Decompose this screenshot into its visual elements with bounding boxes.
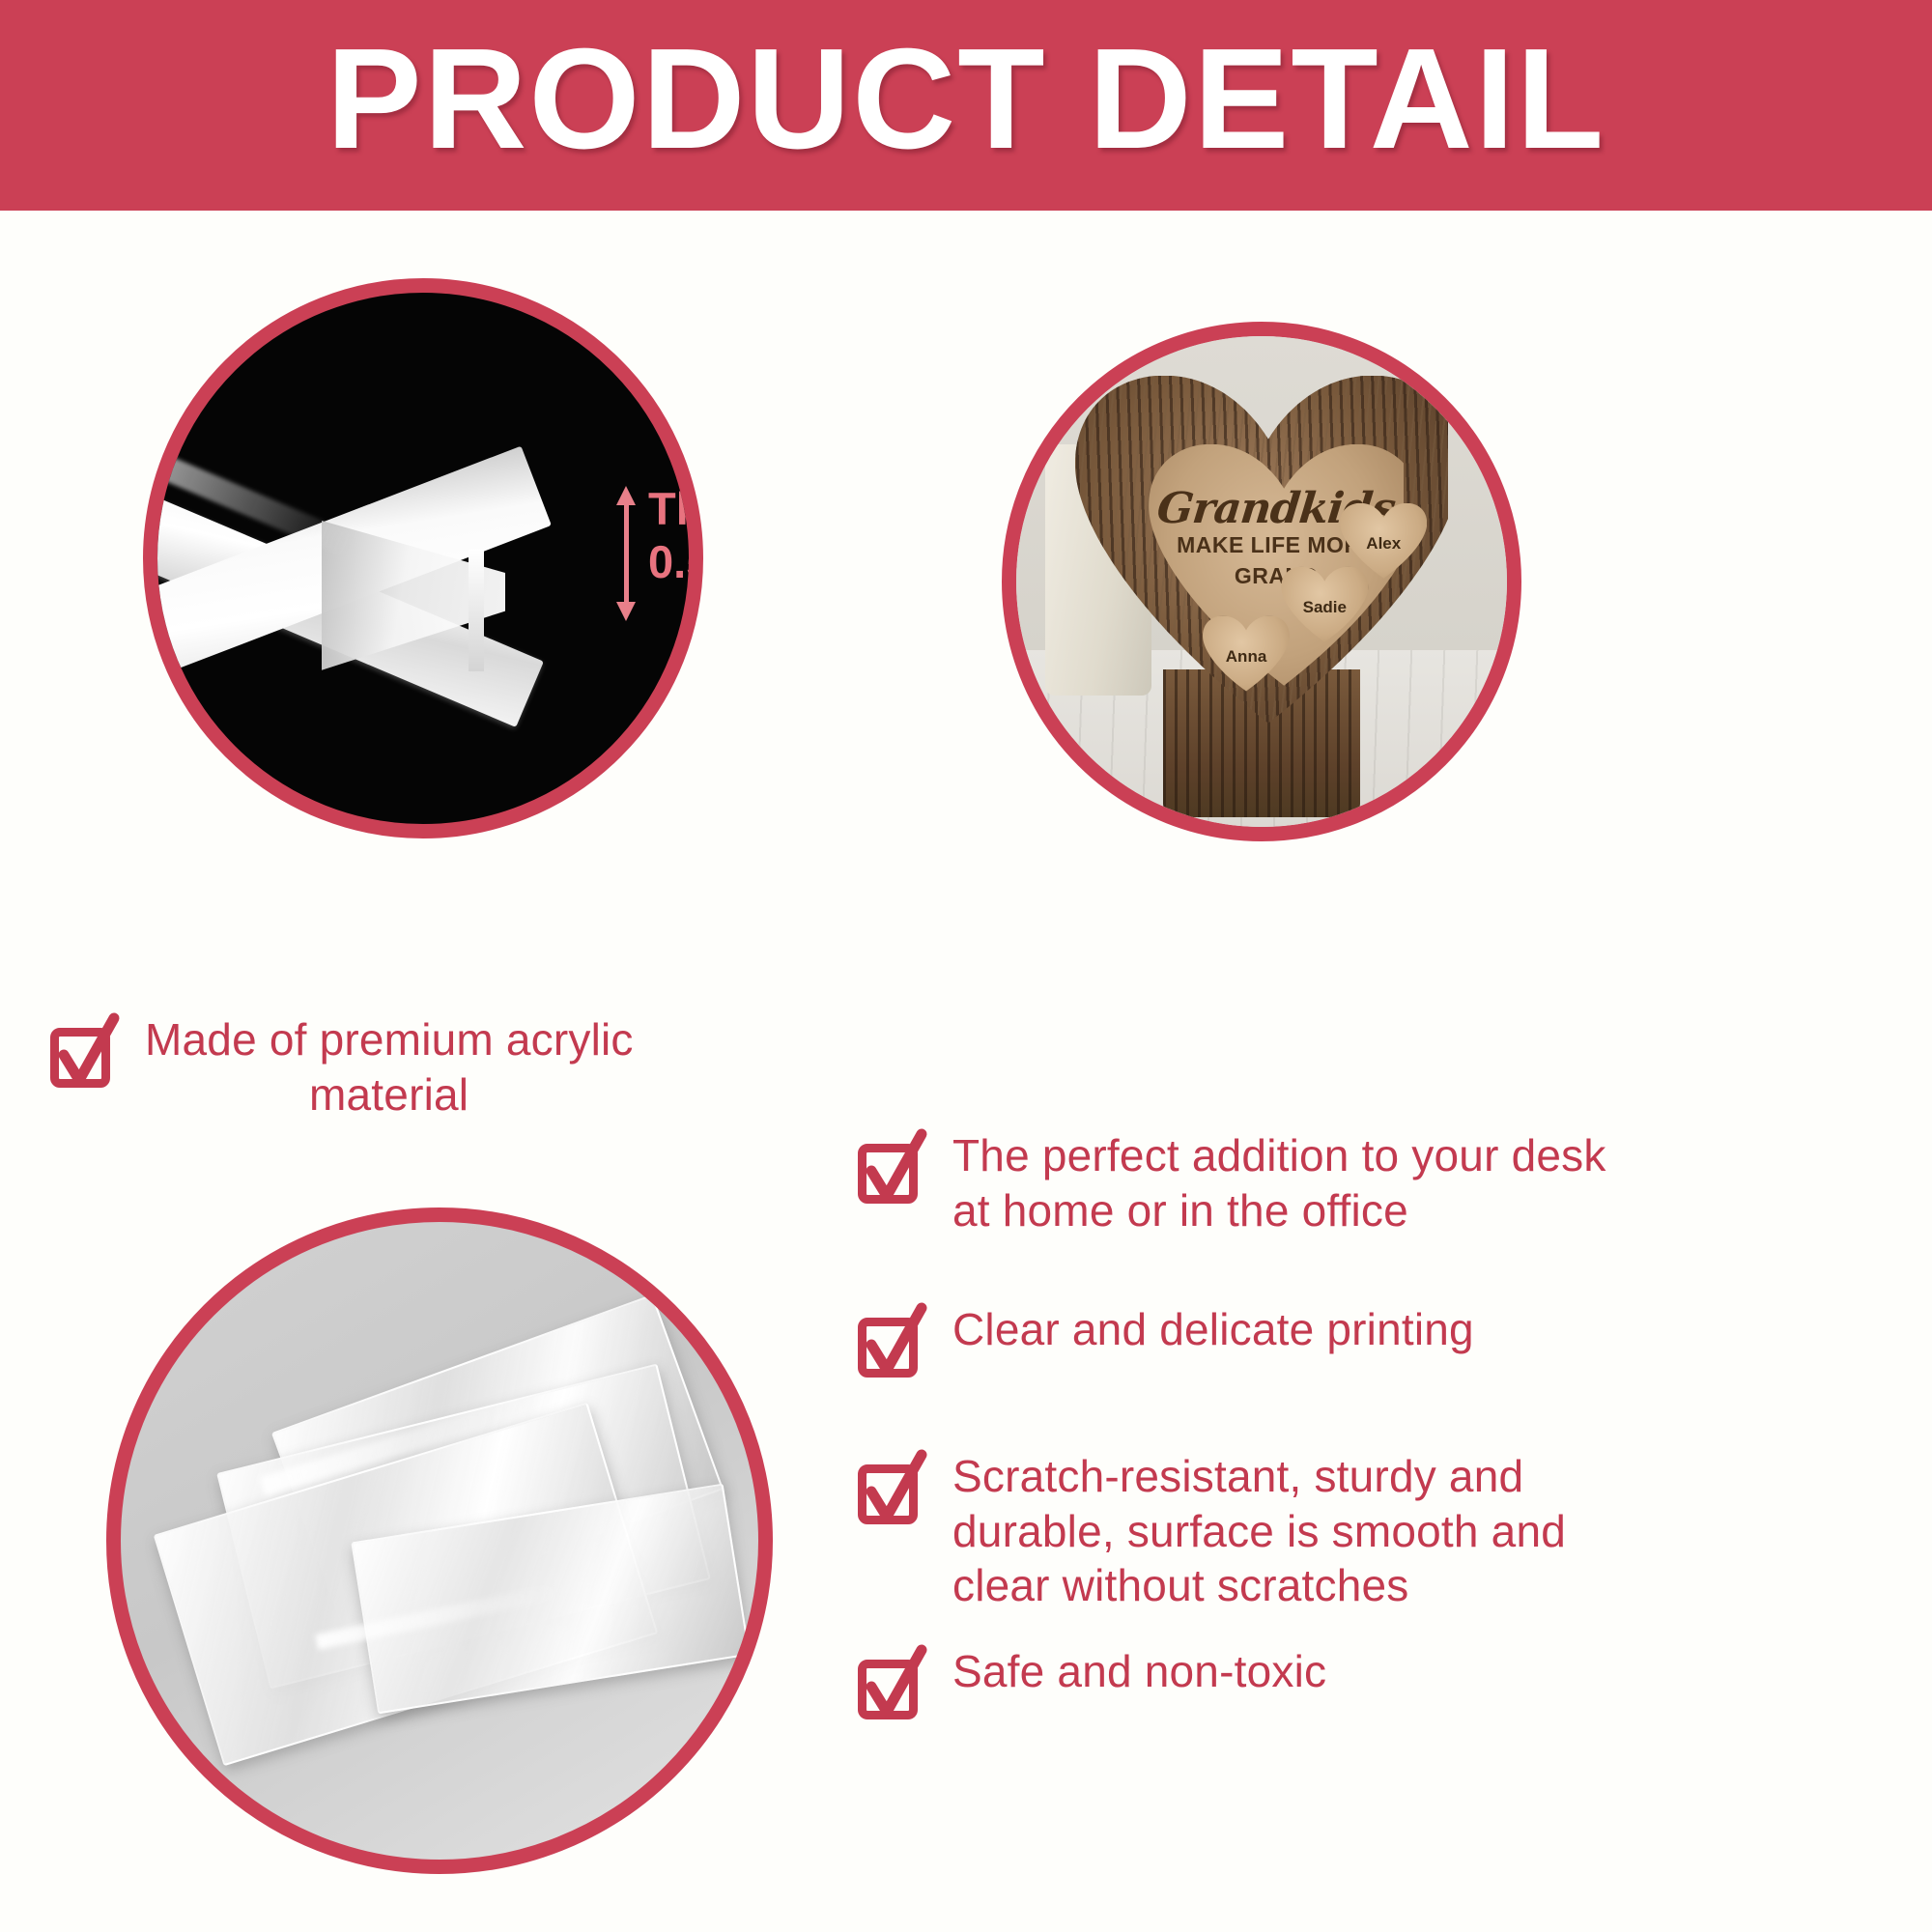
feature-text: Clear and delicate printing [952, 1302, 1474, 1357]
acrylic-measured-edge [469, 550, 484, 671]
checkbox-checked-icon [858, 1453, 927, 1528]
feature-item-printing: Clear and delicate printing [858, 1302, 1901, 1381]
feature-line-1: Safe and non-toxic [952, 1644, 1326, 1699]
feature-item-scratch: Scratch-resistant, sturdy and durable, s… [858, 1449, 1901, 1613]
arrow-head-down-icon [616, 602, 636, 621]
feature-line-1: Clear and delicate printing [952, 1302, 1474, 1357]
checkbox-checked-icon [858, 1132, 927, 1207]
double-arrow-vertical-icon [613, 486, 639, 621]
header-banner: PRODUCT DETAIL [0, 0, 1932, 211]
name-heart-label: Anna [1226, 647, 1267, 667]
checkbox-checked-icon [858, 1306, 927, 1381]
page-title: PRODUCT DETAIL [327, 28, 1605, 171]
feature-item-desk: The perfect addition to your desk at hom… [858, 1128, 1901, 1237]
photo-heart-product: Grandkids MAKE LIFE MORE GRAND Alex Sadi… [1002, 322, 1521, 841]
thickness-label-line1: Thickness [648, 482, 703, 535]
feature-text: Made of premium acrylic material [145, 1012, 634, 1122]
feature-line-2: material [145, 1067, 634, 1122]
feature-line-1: The perfect addition to your desk [952, 1128, 1606, 1183]
product-scene: Grandkids MAKE LIFE MORE GRAND Alex Sadi… [1016, 336, 1507, 827]
feature-text: Scratch-resistant, sturdy and durable, s… [952, 1449, 1566, 1613]
feature-line-3: clear without scratches [952, 1558, 1566, 1613]
feature-item-acrylic: Made of premium acrylic material [50, 1012, 765, 1122]
arrow-head-up-icon [616, 486, 636, 505]
thickness-callout: Thickness 0.55 in [648, 482, 703, 589]
feature-text: The perfect addition to your desk at hom… [952, 1128, 1606, 1237]
checkbox-checked-icon [50, 1016, 120, 1092]
feature-line-2: durable, surface is smooth and [952, 1504, 1566, 1559]
name-heart-label: Alex [1366, 534, 1401, 554]
photo-thickness-detail: Thickness 0.55 in [143, 278, 703, 838]
name-heart-label: Sadie [1303, 598, 1347, 617]
thickness-label-line2: 0.55 in [648, 535, 703, 588]
feature-text: Safe and non-toxic [952, 1644, 1326, 1699]
arrow-shaft [624, 503, 629, 604]
feature-line-2: at home or in the office [952, 1183, 1606, 1238]
feature-line-1: Scratch-resistant, sturdy and [952, 1449, 1566, 1504]
feature-line-1: Made of premium acrylic [145, 1014, 634, 1065]
photo-acrylic-sheets [106, 1207, 773, 1874]
checkbox-checked-icon [858, 1648, 927, 1723]
acrylic-edge-illustration [143, 351, 631, 838]
feature-item-safe: Safe and non-toxic [858, 1644, 1901, 1723]
